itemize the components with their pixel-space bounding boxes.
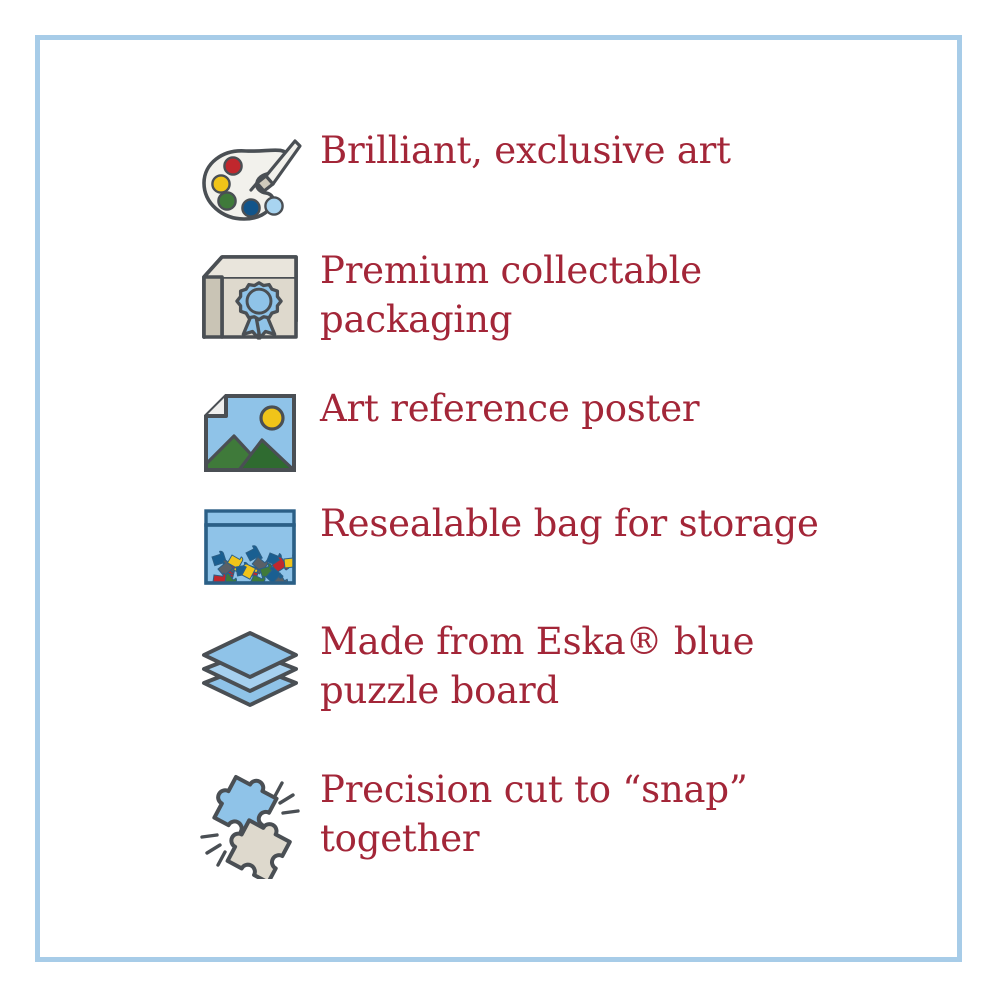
award-box-icon: [180, 245, 320, 349]
feature-label-premium-collectable-packaging: Premium collectable packaging: [320, 245, 940, 345]
label-line: puzzle board: [320, 667, 940, 716]
feature-row-resealable-bag-for-storage: Resealable bag for storage: [180, 498, 940, 616]
label-line: Made from Eska® blue: [320, 618, 940, 667]
label-line: Precision cut to “snap”: [320, 766, 940, 815]
label-line: packaging: [320, 296, 940, 345]
resealable-bag-icon: [180, 498, 320, 596]
feature-label-made-from-eska-blue-puzzle-board: Made from Eska® blue puzzle board: [320, 616, 940, 716]
poster-image-icon: [180, 383, 320, 483]
label-line: Art reference poster: [320, 385, 940, 434]
feature-row-precision-cut-to-snap-together: Precision cut to “snap” together: [180, 764, 940, 894]
feature-label-brilliant-exclusive-art: Brilliant, exclusive art: [320, 125, 940, 176]
feature-row-brilliant-exclusive-art: Brilliant, exclusive art: [180, 125, 940, 245]
label-line: together: [320, 815, 940, 864]
feature-label-art-reference-poster: Art reference poster: [320, 383, 940, 434]
feature-label-resealable-bag-for-storage: Resealable bag for storage: [320, 498, 940, 549]
label-line: Brilliant, exclusive art: [320, 127, 940, 176]
label-line: Resealable bag for storage: [320, 500, 940, 549]
feature-list: Brilliant, exclusive art: [180, 125, 940, 894]
feature-row-premium-collectable-packaging: Premium collectable packaging: [180, 245, 940, 383]
feature-row-made-from-eska-blue-puzzle-board: Made from Eska® blue puzzle board: [180, 616, 940, 764]
paint-palette-icon: [180, 125, 320, 237]
blue-border-frame: Brilliant, exclusive art: [35, 35, 962, 962]
puzzle-pieces-snap-icon: [180, 764, 320, 882]
label-line: Premium collectable: [320, 247, 940, 296]
feature-label-precision-cut-to-snap-together: Precision cut to “snap” together: [320, 764, 940, 864]
board-layers-icon: [180, 616, 320, 718]
feature-row-art-reference-poster: Art reference poster: [180, 383, 940, 498]
feature-graphic-page: Brilliant, exclusive art: [0, 0, 1000, 1000]
